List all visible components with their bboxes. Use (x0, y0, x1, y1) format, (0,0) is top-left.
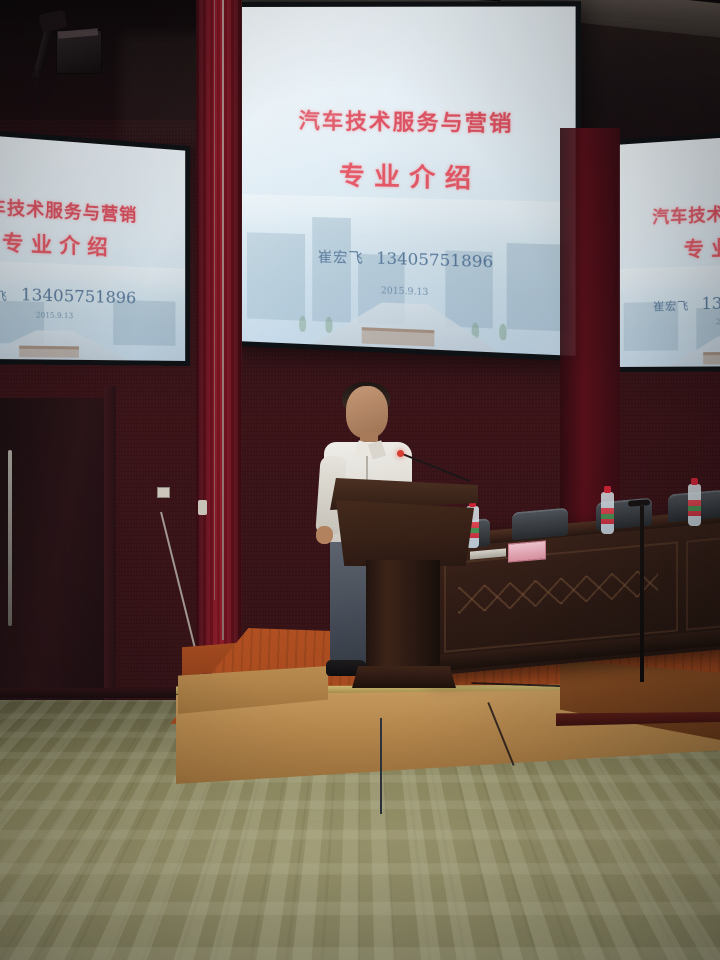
baseboard-trim (0, 688, 200, 698)
hand (316, 526, 333, 544)
curtain-pull-cord[interactable] (222, 0, 224, 640)
presenter-phone: 13405751896 (376, 248, 493, 271)
name-placard (508, 540, 546, 562)
curtain-folds (196, 0, 242, 690)
center-screen-surface: 汽车技术服务与营销 专业介绍 崔宏飞13405751896 2015.9.13 (241, 6, 576, 355)
lecture-hall-photo: 汽车技术服务与营销 专业介绍 崔宏飞13405751896 2015.9.13 (0, 0, 720, 960)
bottle-label-stripe (601, 514, 614, 519)
bottle-cap (604, 486, 611, 493)
light-switch[interactable] (157, 487, 170, 498)
leg-seam (380, 718, 382, 814)
head (346, 386, 388, 438)
podium-base (352, 666, 456, 688)
bottle-cap (691, 478, 698, 485)
center-projection-screen: 汽车技术服务与营销 专业介绍 崔宏飞13405751896 2015.9.13 (236, 1, 581, 361)
podium-column (366, 560, 440, 682)
microphone-indicator-icon (397, 450, 404, 457)
presenter-name: 崔宏飞 (318, 250, 364, 268)
slide-title-line2: 专业介绍 (0, 221, 185, 264)
slide-title-line1: 汽车技术服务与营销 (619, 193, 720, 230)
bottle-label-stripe (688, 506, 701, 511)
auditorium-door[interactable] (0, 398, 107, 700)
wall-outlet-box (198, 500, 207, 515)
chair (512, 508, 568, 541)
slide-title-line1: 汽车技术服务与营销 (0, 187, 185, 228)
right-slide-text: 汽车技术服务与营销 专业介绍 崔宏飞13405751896 2015.9.13 (619, 129, 720, 367)
curtain-pull-cord-secondary[interactable] (214, 0, 215, 600)
slide-title-line1: 汽车技术服务与营销 (241, 104, 576, 139)
slide-presenter: 崔宏飞13405751896 (0, 280, 185, 308)
door-jamb (104, 386, 116, 702)
presenter-phone: 13405751896 (701, 291, 720, 313)
slide-date: 2015.9.13 (0, 308, 185, 323)
wall-speaker-fixture (18, 12, 104, 86)
presenter-name: 崔宏飞 (653, 299, 689, 313)
slide-presenter: 崔宏飞13405751896 (241, 244, 576, 275)
slide-title-line2: 专业介绍 (619, 226, 720, 265)
slide-date: 2015.9.13 (241, 281, 576, 303)
slide-date: 2015.9.13 (619, 316, 720, 328)
slide-title-line2: 专业介绍 (241, 154, 576, 198)
mic-stand-pole (640, 506, 644, 682)
presenter-name: 崔宏飞 (0, 288, 8, 303)
right-screen-surface: 汽车技术服务与营销 专业介绍 崔宏飞13405751896 2015.9.13 (619, 129, 720, 367)
center-screen-frame: 汽车技术服务与营销 专业介绍 崔宏飞13405751896 2015.9.13 (236, 1, 581, 361)
slide-presenter: 崔宏飞13405751896 (619, 290, 720, 315)
table-front-panel-right (686, 535, 720, 631)
right-projection-screen: 汽车技术服务与营销 专业介绍 崔宏飞13405751896 2015.9.13 (614, 123, 720, 372)
door-handle[interactable] (8, 450, 12, 626)
red-curtain (196, 0, 242, 690)
right-screen-frame: 汽车技术服务与营销 专业介绍 崔宏飞13405751896 2015.9.13 (614, 123, 720, 372)
left-screen-frame: 汽车技术服务与营销 专业介绍 崔宏飞13405751896 2015.9.13 (0, 124, 190, 366)
podium-body (336, 500, 474, 566)
presenter-phone: 13405751896 (21, 284, 136, 307)
left-screen-surface: 汽车技术服务与营销 专业介绍 崔宏飞13405751896 2015.9.13 (0, 130, 185, 361)
center-slide-text: 汽车技术服务与营销 专业介绍 崔宏飞13405751896 2015.9.13 (241, 6, 576, 355)
water-bottle (601, 492, 614, 534)
left-slide-text: 汽车技术服务与营销 专业介绍 崔宏飞13405751896 2015.9.13 (0, 130, 185, 361)
left-projection-screen: 汽车技术服务与营销 专业介绍 崔宏飞13405751896 2015.9.13 (0, 124, 190, 366)
water-bottle (688, 484, 701, 526)
